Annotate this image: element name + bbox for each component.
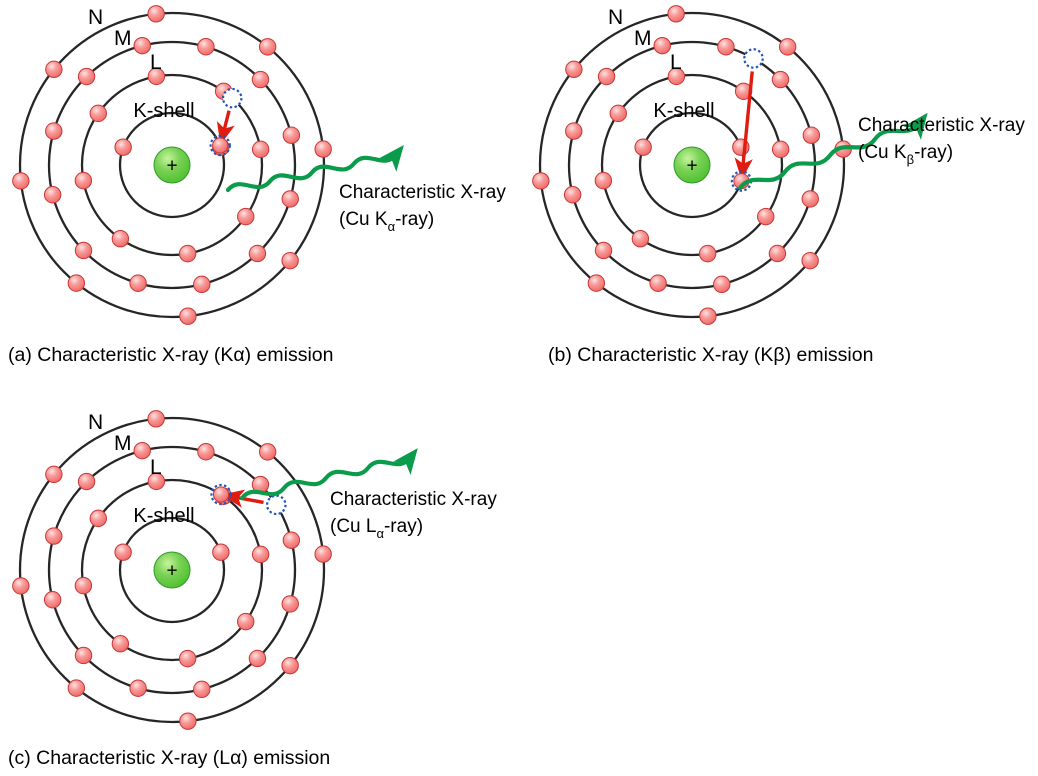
electron-l-1 (90, 510, 106, 526)
panel-caption-a: (a) Characteristic X-ray (Kα) emission (8, 344, 334, 366)
electron-m-9 (803, 127, 819, 143)
electron-m-4 (595, 242, 611, 258)
electron-n-7 (259, 444, 275, 460)
electron-n-2 (533, 173, 549, 189)
nucleus-charge-label: + (166, 156, 177, 177)
electron-n-5 (282, 252, 298, 268)
electron-m-1 (78, 68, 94, 84)
atom-panel-a: +NMLK-shellCharacteristic X-ray(Cu Kα-ra… (8, 6, 506, 366)
electron-m-6 (194, 276, 210, 292)
electron-l-2 (75, 172, 91, 188)
electron-m-7 (249, 245, 265, 261)
electron-n-5 (802, 252, 818, 268)
electron-m-1 (598, 68, 614, 84)
electron-n-1 (46, 466, 62, 482)
electron-m-2 (46, 528, 62, 544)
shell-label-m: M (114, 27, 132, 50)
electron-l-6 (252, 546, 268, 562)
xray-label-prefix: (Cu K (858, 142, 907, 163)
electron-n-1 (46, 61, 62, 77)
electron-m-5 (650, 275, 666, 291)
electron-m-0 (654, 37, 670, 53)
electron-transition-arrow (234, 497, 264, 503)
electron-m-7 (249, 650, 265, 666)
electron-transition-arrow (223, 111, 229, 133)
electron-n-0 (148, 6, 164, 22)
electron-m-10 (252, 71, 268, 87)
shell-label-n: N (608, 6, 623, 29)
electron-m-3 (44, 592, 60, 608)
electron-m-6 (714, 276, 730, 292)
electron-l-4 (179, 245, 195, 261)
electron-m-3 (44, 187, 60, 203)
electron-m-1 (78, 473, 94, 489)
electron-n-2 (13, 578, 29, 594)
electron-l-2 (75, 577, 91, 593)
electron-m-11 (718, 39, 734, 55)
shell-label-k: K-shell (133, 505, 194, 527)
electron-m-5 (130, 275, 146, 291)
xray-label-line1: Characteristic X-ray (339, 182, 506, 203)
electron-m-8 (802, 191, 818, 207)
shell-label-l: L (150, 51, 162, 74)
electron-m-0 (134, 37, 150, 53)
electron-l-6 (772, 141, 788, 157)
shell-label-n: N (88, 6, 103, 29)
electron-l-2 (595, 172, 611, 188)
electron-n-0 (148, 411, 164, 427)
electron-m-4 (75, 242, 91, 258)
electron-m-7 (769, 245, 785, 261)
shell-label-k: K-shell (653, 100, 714, 122)
electron-m-3 (564, 187, 580, 203)
electron-n-3 (68, 680, 84, 696)
panels-layer: +NMLK-shellCharacteristic X-ray(Cu Kα-ra… (8, 6, 1025, 769)
xray-label-line2: (Cu Kα-ray) (339, 209, 434, 234)
electron-n-1 (566, 61, 582, 77)
xray-label-line2: (Cu Lα-ray) (330, 516, 423, 541)
electron-m-11 (198, 39, 214, 55)
electron-m-4 (75, 647, 91, 663)
electron-k-0 (115, 544, 131, 560)
electron-vacancy (267, 496, 285, 514)
xray-emission-diagram: +NMLK-shellCharacteristic X-ray(Cu Kα-ra… (0, 0, 1038, 776)
electron-l-4 (699, 245, 715, 261)
electron-m-9 (283, 532, 299, 548)
electron-l-5 (238, 208, 254, 224)
shell-label-k: K-shell (133, 100, 194, 122)
shell-label-n: N (88, 411, 103, 434)
shell-label-l: L (150, 456, 162, 479)
electron-n-5 (282, 657, 298, 673)
panel-caption-b: (b) Characteristic X-ray (Kβ) emission (548, 344, 873, 366)
electron-k-0 (115, 139, 131, 155)
electron-vacancy (744, 49, 762, 67)
electron-n-7 (779, 39, 795, 55)
xray-label-line1: Characteristic X-ray (330, 489, 497, 510)
electron-n-4 (180, 713, 196, 729)
xray-label-subscript: β (907, 152, 914, 167)
electron-l-6 (252, 141, 268, 157)
electron-n-3 (68, 275, 84, 291)
electron-m-2 (566, 123, 582, 139)
xray-label-suffix: -ray) (384, 516, 423, 537)
xray-label-line1: Characteristic X-ray (858, 115, 1025, 136)
transition-filled-electron (213, 487, 228, 502)
electron-n-4 (700, 308, 716, 324)
electron-m-9 (283, 127, 299, 143)
atom-panel-c: +NMLK-shellCharacteristic X-ray(Cu Lα-ra… (8, 411, 497, 769)
xray-label-prefix: (Cu L (330, 516, 376, 537)
electron-m-6 (194, 681, 210, 697)
electron-n-3 (588, 275, 604, 291)
electron-n-2 (13, 173, 29, 189)
transition-filled-electron (213, 138, 228, 153)
xray-label-suffix: -ray) (395, 209, 434, 230)
figure-root: +NMLK-shellCharacteristic X-ray(Cu Kα-ra… (0, 0, 1038, 776)
electron-m-0 (134, 442, 150, 458)
electron-l-4 (179, 650, 195, 666)
electron-l-3 (112, 636, 128, 652)
electron-l-5 (758, 208, 774, 224)
shell-label-l: L (670, 51, 682, 74)
electron-n-0 (668, 6, 684, 22)
panel-caption-c: (c) Characteristic X-ray (Lα) emission (8, 747, 330, 769)
electron-m-11 (198, 444, 214, 460)
xray-label-suffix: -ray) (914, 142, 953, 163)
electron-m-8 (282, 596, 298, 612)
electron-n-6 (315, 141, 331, 157)
xray-label-line2: (Cu Kβ-ray) (858, 142, 953, 167)
electron-n-4 (180, 308, 196, 324)
electron-m-5 (130, 680, 146, 696)
nucleus-charge-label: + (166, 561, 177, 582)
electron-vacancy (223, 89, 241, 107)
electron-k-1 (213, 544, 229, 560)
electron-m-2 (46, 123, 62, 139)
xray-label-prefix: (Cu K (339, 209, 388, 230)
atom-panel-b: +NMLK-shellCharacteristic X-ray(Cu Kβ-ra… (533, 6, 1026, 366)
electron-l-3 (632, 231, 648, 247)
electron-l-1 (610, 105, 626, 121)
electron-m-8 (282, 191, 298, 207)
shell-label-m: M (114, 432, 132, 455)
electron-n-7 (259, 39, 275, 55)
shell-label-m: M (634, 27, 652, 50)
electron-l-3 (112, 231, 128, 247)
electron-l-5 (238, 613, 254, 629)
electron-k-0 (635, 139, 651, 155)
electron-n-6 (315, 546, 331, 562)
electron-l-1 (90, 105, 106, 121)
nucleus-charge-label: + (686, 156, 697, 177)
electron-m-10 (772, 71, 788, 87)
